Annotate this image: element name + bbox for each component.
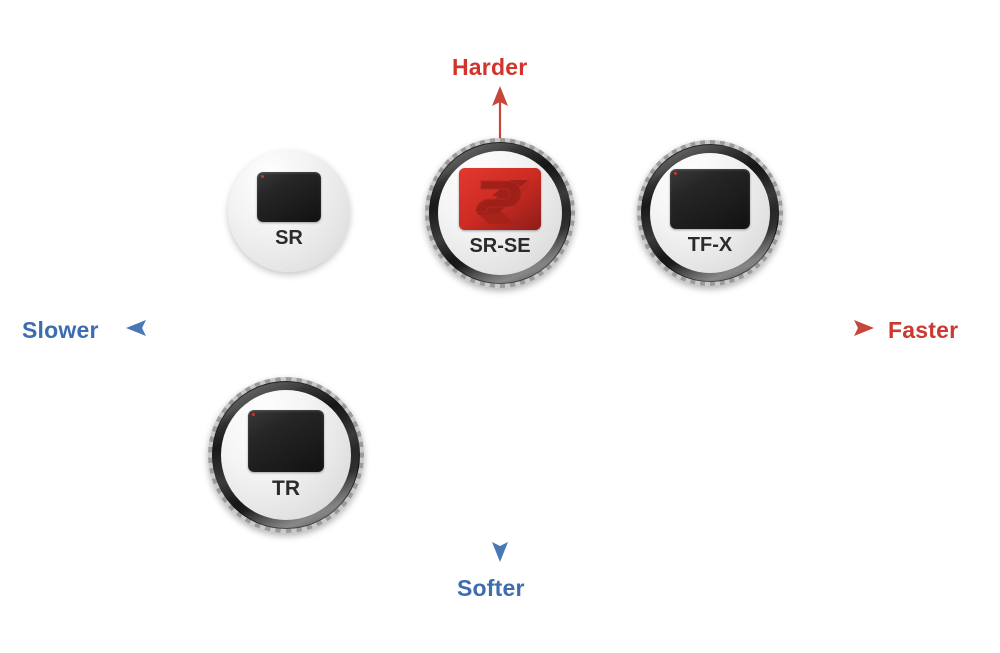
knob-sr[interactable]: SR: [228, 150, 350, 272]
knob-face: SR-SE: [438, 151, 562, 275]
axis-label-slower: Slower: [22, 317, 99, 344]
dark-screen-icon: [670, 169, 750, 229]
knob-label-tf-x: TF-X: [688, 234, 732, 257]
knob-tr[interactable]: TR: [208, 377, 364, 533]
faster-arrowhead-icon: [854, 320, 874, 336]
axes-group: [0, 0, 1000, 653]
knob-label-sr-se: SR-SE: [469, 235, 530, 258]
knob-tf-x[interactable]: TF-X: [637, 140, 783, 286]
red-indicator-dot-icon: [252, 413, 255, 416]
harder-arrowhead-icon: [492, 86, 508, 106]
red-indicator-dot-icon: [261, 175, 264, 178]
softer-arrowhead-icon: [492, 542, 508, 562]
axis-label-faster: Faster: [888, 317, 958, 344]
slower-arrowhead-icon: [126, 320, 146, 336]
axis-label-softer: Softer: [457, 575, 525, 602]
knob-face: TF-X: [650, 153, 770, 273]
axis-label-harder: Harder: [452, 54, 527, 81]
knob-face: TR: [221, 390, 351, 520]
knob-label-sr: SR: [275, 227, 303, 250]
knob-face: SR: [228, 150, 350, 272]
dark-screen-icon: [248, 410, 324, 472]
dark-screen-icon: [257, 172, 321, 222]
red-indicator-dot-icon: [674, 172, 677, 175]
knob-label-tr: TR: [272, 477, 300, 501]
red-ribbon-logo-icon: [459, 168, 541, 230]
knob-sr-se[interactable]: SR-SE: [425, 138, 575, 288]
positioning-quadrant-canvas: Slower Faster Harder Softer SR: [0, 0, 1000, 653]
